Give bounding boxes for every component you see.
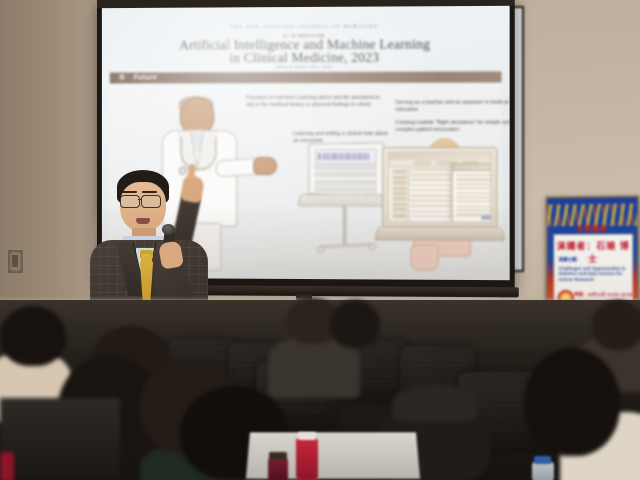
cart-pole [343, 205, 347, 247]
poster-topic-label: 演講主題： [558, 257, 581, 263]
slide-author: Jeffrey M. Drazen, M.D., Editor [102, 64, 510, 69]
ehr-laptop-base [374, 227, 506, 241]
eyeglasses-bridge [138, 199, 142, 200]
beverage-bottle [0, 452, 14, 480]
bottle-cap [534, 456, 551, 464]
presenter-mouth [136, 218, 150, 224]
poster-topic-english: Challenges and Opportunities in Statisti… [558, 266, 628, 282]
lecture-photo-scene: The NEW ENGLAND JOURNAL of MEDICINE AI I… [0, 0, 640, 480]
panel-letter: B [120, 75, 125, 82]
baseball-cap-icon [392, 384, 478, 422]
panel-label: Future [134, 74, 157, 81]
ehr-sidebar [391, 168, 409, 220]
conference-table-left [0, 398, 120, 480]
caption-simulator: Creating realistic "flight simulators" f… [395, 120, 509, 135]
eyeglasses-icon [120, 195, 140, 208]
ehr-dialog-body [453, 171, 492, 221]
laptop-keyboard [304, 196, 383, 202]
ehr-dialog [452, 163, 492, 223]
water-bottle [532, 462, 554, 480]
ehr-screen [388, 152, 491, 223]
ehr-laptop-illustration [376, 147, 501, 252]
caption-teacher: Serving as a teacher and an assessor in … [395, 100, 509, 115]
laptop-note-rows [315, 165, 376, 195]
bottle-cap [269, 452, 287, 460]
caption-coaching: Provision of real-time coaching about sp… [246, 95, 386, 110]
ehr-laptop-lid [382, 147, 497, 228]
audience-head [524, 348, 620, 456]
audio-waveform-icon [315, 149, 376, 165]
presenter-eyebrow-right [142, 191, 157, 193]
cart-wheel-icon [369, 243, 376, 250]
ehr-tab [413, 161, 431, 165]
bottle-cap [298, 432, 316, 440]
audience-head [592, 300, 640, 350]
cart-foot [319, 243, 373, 249]
slide-title-line2: in Clinical Medicine, 2023 [102, 50, 510, 64]
audience-head [0, 306, 66, 366]
caption-listening: Listening and writing a clinical note ab… [293, 131, 388, 145]
beverage-bottle [296, 438, 318, 480]
journal-header: The NEW ENGLAND JOURNAL of MEDICINE [102, 23, 510, 30]
presenter-eyebrow-left [122, 191, 137, 193]
laptop-screen [309, 142, 384, 196]
audience-head [330, 300, 380, 348]
cart-wheel-icon [317, 246, 324, 253]
doctor-hand [253, 157, 277, 175]
eyeglasses-icon [141, 195, 161, 208]
poster-time: 時間：10月12日 14:00~16:00 [574, 292, 632, 298]
ehr-dialog-titlebar [453, 164, 492, 171]
poster-banner-title: 名師講座 [548, 224, 638, 235]
beverage-bottle [268, 458, 288, 480]
slide-title: Artificial Intelligence and Machine Lear… [102, 37, 510, 65]
ehr-laptop-trackpad [400, 230, 477, 233]
wall-outlet-icon [8, 250, 23, 273]
stethoscope-icon [181, 137, 217, 170]
ehr-dialog-button [481, 215, 491, 220]
